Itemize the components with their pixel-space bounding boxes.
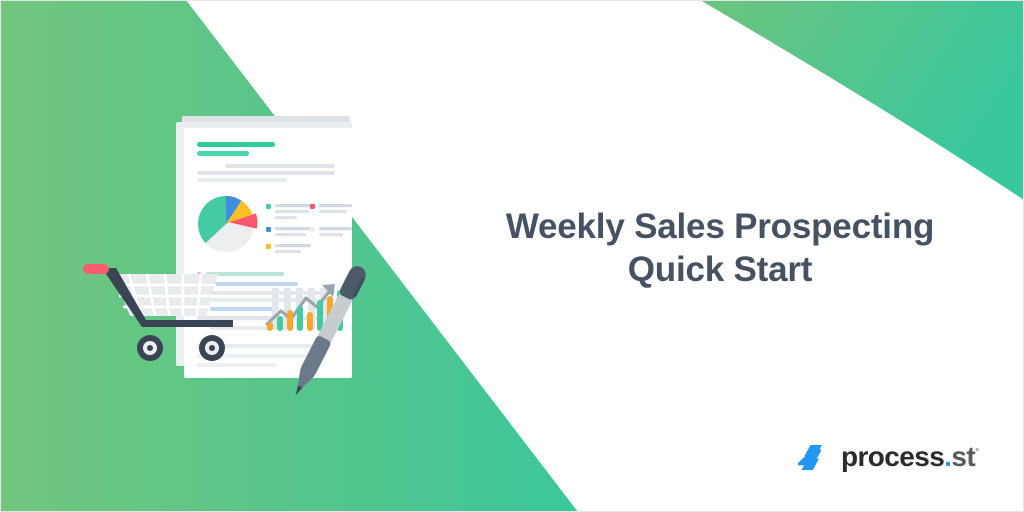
legend-text-line [275,204,315,207]
doc-body-line [210,307,276,311]
cart-wheel-hub [147,345,153,351]
doc-body-line [197,171,335,175]
legend-text-line [319,227,352,230]
legend-text-line [319,210,347,213]
legend-text-line [275,233,306,236]
bar [307,312,313,331]
bar [317,300,323,331]
cart-wheel-hub [209,345,215,351]
legend-text-line [275,210,309,213]
top-right-green-wedge [700,0,1024,200]
bar [277,316,283,331]
doc-heading-line-2 [197,151,249,156]
brand-logo[interactable]: process.st° [798,443,979,473]
legend-marker [266,204,271,209]
legend-marker [310,204,315,209]
bar [287,310,293,331]
page-title: Weekly Sales Prospecting Quick Start [460,206,980,291]
doc-body-line [197,363,277,367]
legend-text-line [319,233,343,236]
sales-report-illustration [70,108,390,398]
logo-wordmark: process.st° [841,443,979,471]
poster-canvas: Weekly Sales Prospecting Quick Start pro… [0,0,1024,512]
logo-word-st: st [951,441,975,472]
doc-body-line [197,178,287,182]
legend-text-line [275,250,301,253]
legend-marker [266,244,271,249]
logo-word-process: process [841,441,944,472]
legend-text-line [275,216,297,219]
legend-text-line [275,227,315,230]
doc-heading-line-1 [197,142,275,147]
cart-handle [83,264,109,274]
legend-marker [310,227,315,232]
bar [267,322,273,331]
legend-text-line [275,244,311,247]
legend-text-line [319,204,352,207]
doc-body-line [210,282,298,286]
pen-tip [293,385,302,396]
legend-marker [266,227,271,232]
process-st-slashes-icon [798,443,832,473]
title-line-2: Quick Start [460,249,980,292]
doc-body-line [225,164,335,168]
title-line-1: Weekly Sales Prospecting [460,206,980,249]
logo-registered-mark: ° [975,448,978,459]
bar [297,306,303,331]
